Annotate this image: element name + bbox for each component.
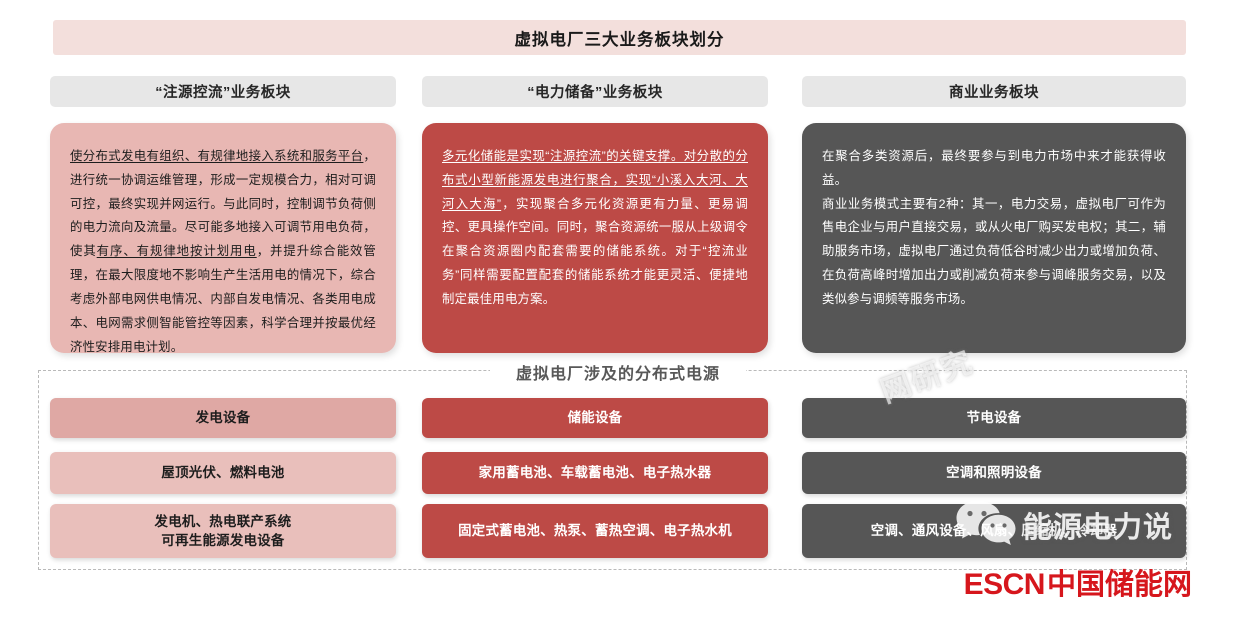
escn-logo-han: 中国储能网 bbox=[1047, 561, 1192, 603]
grid-cell-2-1: 家用蓄电池、车载蓄电池、电子热水器 bbox=[422, 452, 768, 494]
column-body-3: 在聚合多类资源后，最终要参与到电力市场中来才能获得收益。商业业务模式主要有2种：… bbox=[802, 123, 1186, 353]
grid-cell-3-1: 空调和照明设备 bbox=[802, 452, 1186, 494]
column-body-1: 使分布式发电有组织、有规律地接入系统和服务平台，进行统一协调运维管理，形成一定规… bbox=[50, 123, 396, 353]
grid-header-2: 储能设备 bbox=[422, 398, 768, 438]
escn-logo-latin: ESCN bbox=[964, 568, 1045, 602]
section-title: 虚拟电厂涉及的分布式电源 bbox=[0, 360, 1236, 384]
grid-header-1: 发电设备 bbox=[50, 398, 396, 438]
grid-header-3: 节电设备 bbox=[802, 398, 1186, 438]
infographic-root: 虚拟电厂三大业务板块划分 “注源控流”业务板块 “电力储备”业务板块 商业业务板… bbox=[0, 0, 1236, 617]
grid-cell-1-1: 屋顶光伏、燃料电池 bbox=[50, 452, 396, 494]
grid-cell-2-2: 固定式蓄电池、热泵、蓄热空调、电子热水机 bbox=[422, 504, 768, 558]
column-body-2: 多元化储能是实现“注源控流”的关键支撑。对分散的分布式小型新能源发电进行聚合，实… bbox=[422, 123, 768, 353]
grid-cell-1-2: 发电机、热电联产系统可再生能源发电设备 bbox=[50, 504, 396, 558]
grid-cell-3-2: 空调、通风设备、风扇、压缩机、冷却器 bbox=[802, 504, 1186, 558]
page-title: 虚拟电厂三大业务板块划分 bbox=[53, 20, 1186, 55]
column-header-1: “注源控流”业务板块 bbox=[50, 76, 396, 107]
escn-logo: ESCN 中国储能网 bbox=[964, 561, 1192, 603]
section-title-text: 虚拟电厂涉及的分布式电源 bbox=[490, 366, 746, 383]
column-header-2: “电力储备”业务板块 bbox=[422, 76, 768, 107]
column-header-3: 商业业务板块 bbox=[802, 76, 1186, 107]
